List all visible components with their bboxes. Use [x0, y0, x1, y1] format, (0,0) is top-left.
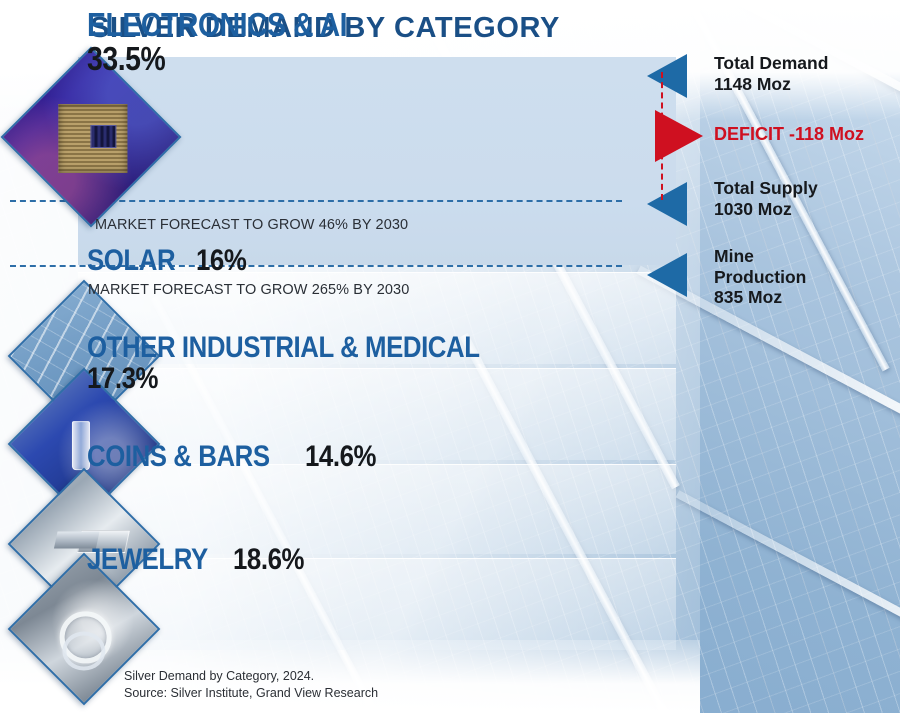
deficit-annotation: DEFICIT -118 Moz — [714, 124, 864, 145]
category-name-jewelry: JEWELRY — [87, 543, 208, 577]
category-name-coins-bars: COINS & BARS — [87, 440, 270, 474]
category-pct-solar: 16% — [196, 244, 246, 278]
category-pct-jewelry: 18.6% — [233, 543, 304, 577]
band-coins-bars — [78, 464, 676, 554]
row-label-electronics: ELECTRONICS & AI 33.5% — [87, 8, 389, 75]
mine-production-label-2: Production — [714, 267, 806, 288]
footer-line-2: Source: Silver Institute, Grand View Res… — [124, 685, 378, 702]
forecast-note-electronics: MARKET FORECAST TO GROW 46% BY 2030 — [95, 217, 408, 233]
category-name-electronics: ELECTRONICS & AI — [87, 8, 347, 42]
category-pct-electronics: 33.5% — [87, 42, 165, 76]
row-label-coins-bars: COINS & BARS14.6% — [87, 440, 388, 474]
category-name-solar: SOLAR — [87, 244, 175, 278]
category-name-other-industrial: OTHER INDUSTRIAL & MEDICAL — [87, 333, 480, 364]
total-supply-value: 1030 Moz — [714, 199, 818, 220]
mine-production-label-1: Mine — [714, 246, 806, 267]
total-demand-label: Total Demand — [714, 53, 828, 74]
row-label-other-industrial: OTHER INDUSTRIAL & MEDICAL 17.3% — [87, 333, 543, 394]
footer-line-1: Silver Demand by Category, 2024. — [124, 668, 378, 685]
forecast-note-solar: MARKET FORECAST TO GROW 265% BY 2030 — [88, 282, 409, 298]
mine-production-value: 835 Moz — [714, 287, 806, 308]
row-label-jewelry: JEWELRY18.6% — [87, 543, 316, 577]
total-demand-arrow-icon — [647, 54, 687, 98]
category-pct-other-industrial: 17.3% — [87, 364, 158, 395]
total-supply-annotation: Total Supply 1030 Moz — [714, 178, 818, 219]
total-supply-label: Total Supply — [714, 178, 818, 199]
category-pct-coins-bars: 14.6% — [305, 440, 376, 474]
total-supply-arrow-icon — [647, 182, 687, 226]
total-demand-value: 1148 Moz — [714, 74, 828, 95]
deficit-arrow-icon — [655, 110, 703, 162]
mine-production-arrow-icon — [647, 253, 687, 297]
mine-production-annotation: Mine Production 835 Moz — [714, 246, 806, 308]
row-label-solar: SOLAR16% — [87, 244, 254, 278]
infographic-root: SILVER DEMAND BY CATEGORY ELEC — [0, 0, 900, 713]
source-footer: Silver Demand by Category, 2024. Source:… — [124, 668, 378, 701]
total-demand-annotation: Total Demand 1148 Moz — [714, 53, 828, 94]
